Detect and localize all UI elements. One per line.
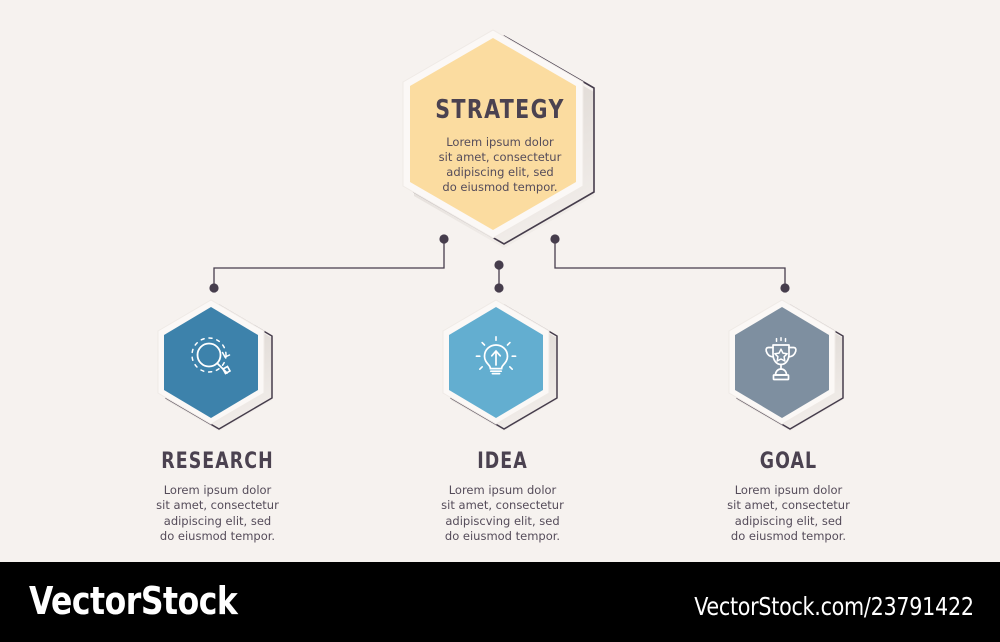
infographic-stage: STRATEGY Lorem ipsum dolor sit amet, con… — [0, 0, 1000, 642]
goal-body: Lorem ipsum dolor sit amet, consectetur … — [716, 483, 861, 544]
connector-dot-research — [209, 283, 218, 292]
diagram-canvas: STRATEGY Lorem ipsum dolor sit amet, con… — [0, 0, 1000, 562]
research-text-block: RESEARCH Lorem ipsum dolor sit amet, con… — [145, 450, 290, 544]
hexagon-research[interactable] — [148, 297, 288, 433]
goal-text-block: GOAL Lorem ipsum dolor sit amet, consect… — [716, 450, 861, 544]
hexagon-goal[interactable] — [719, 297, 859, 433]
hexagon-strategy[interactable] — [385, 26, 615, 248]
research-body: Lorem ipsum dolor sit amet, consectetur … — [145, 483, 290, 544]
connector-dot-center-top — [494, 260, 503, 269]
connector-dot-idea — [494, 283, 503, 292]
research-title: RESEARCH — [154, 450, 282, 474]
vectorstock-logo: VectorStock — [29, 579, 237, 623]
idea-text-block: IDEA Lorem ipsum dolor sit amet, consect… — [430, 450, 575, 544]
hexagon-idea[interactable] — [433, 297, 573, 433]
goal-title: GOAL — [725, 450, 853, 474]
vectorstock-url: VectorStock.com/23791422 — [695, 592, 974, 621]
idea-body: Lorem ipsum dolor sit amet, consectetur … — [430, 483, 575, 544]
connector-dot-goal — [780, 283, 789, 292]
watermark-bar: VectorStock VectorStock.com/23791422 — [0, 562, 1000, 642]
idea-title: IDEA — [439, 450, 567, 474]
